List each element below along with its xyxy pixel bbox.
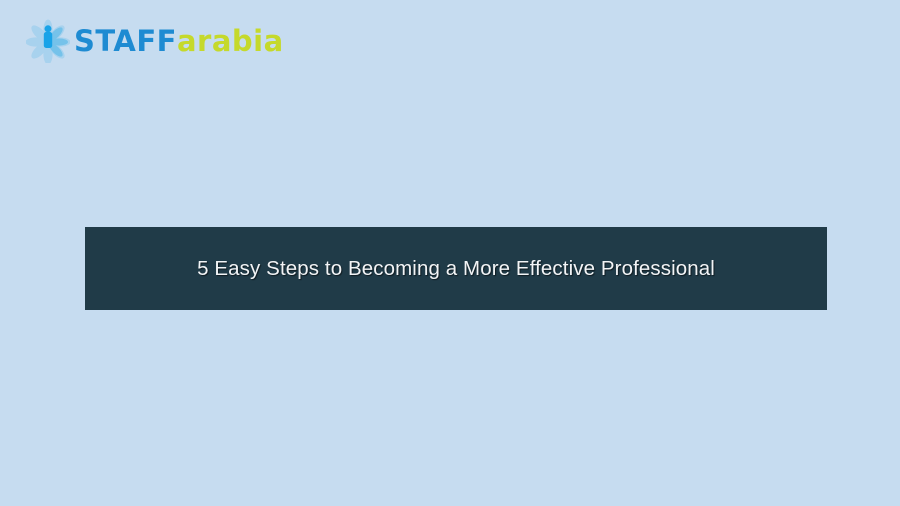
slide-canvas: STAFFarabia 5 Easy Steps to Becoming a M… [0, 0, 900, 506]
title-banner: 5 Easy Steps to Becoming a More Effectiv… [85, 227, 827, 310]
staffarabia-snowflake-person-icon [26, 19, 70, 63]
brand-logo[interactable]: STAFFarabia [26, 18, 284, 64]
brand-wordmark: STAFFarabia [74, 27, 284, 56]
slide-title: 5 Easy Steps to Becoming a More Effectiv… [197, 257, 715, 281]
brand-wordmark-secondary: arabia [177, 27, 284, 56]
brand-wordmark-primary: STAFF [74, 27, 177, 56]
